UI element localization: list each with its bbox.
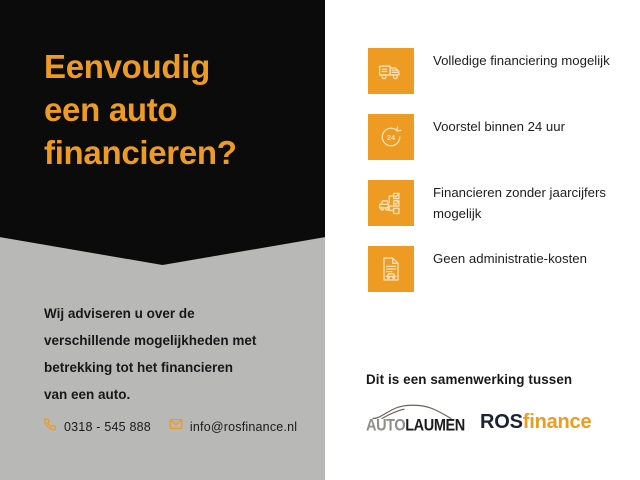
feature-label: Financieren zonder jaarcijfers mogelijk [433,180,613,225]
left-panel: Eenvoudig een auto financieren? Wij advi… [0,0,325,480]
feature-item: 24 Voorstel binnen 24 uur [368,114,628,160]
phone-contact[interactable]: 0318 - 545 888 [44,418,151,436]
financing-banner: Eenvoudig een auto financieren? Wij advi… [0,0,640,480]
svg-text:24: 24 [387,133,396,142]
feature-item: Financieren zonder jaarcijfers mogelijk [368,180,628,226]
car-checklist-icon [368,180,414,226]
feature-item: Volledige financiering mogelijk [368,48,628,94]
ros-finance-logo[interactable]: ROSfinance [480,411,591,435]
body-line-4: van een auto. [44,381,306,408]
auto-laumen-logo[interactable]: AUTOLAUMEN [366,403,458,435]
partnership-title: Dit is een samenwerking tussen [366,372,636,387]
clock-24-icon: 24 [368,114,414,160]
features-list: Volledige financiering mogelijk 24 Voors… [368,48,628,292]
email-address: info@rosfinance.nl [190,420,297,434]
truck-icon [368,48,414,94]
body-copy: Wij adviseren u over de verschillende mo… [44,300,306,408]
body-line-2: verschillende mogelijkheden met [44,327,306,354]
envelope-icon [169,417,183,436]
logo-laumen-text: LAUMEN [405,417,465,435]
phone-icon [44,418,57,436]
document-car-icon [368,246,414,292]
feature-label: Geen administratie-kosten [433,246,613,269]
email-contact[interactable]: info@rosfinance.nl [169,417,297,436]
body-line-1: Wij adviseren u over de [44,300,306,327]
feature-item: Geen administratie-kosten [368,246,628,292]
headline-line-3: financieren? [44,132,314,175]
logo-finance-text: finance [523,411,592,433]
body-line-3: betrekking tot het financieren [44,354,306,381]
headline-line-1: Eenvoudig [44,46,314,89]
feature-label: Voorstel binnen 24 uur [433,114,613,137]
logo-auto-text: AUTO [366,417,405,435]
partnership-section: Dit is een samenwerking tussen AUTOLAUME… [366,372,636,435]
partner-logos: AUTOLAUMEN ROSfinance [366,403,636,435]
feature-label: Volledige financiering mogelijk [433,48,613,71]
page-title: Eenvoudig een auto financieren? [44,46,314,175]
headline-line-2: een auto [44,89,314,132]
phone-number: 0318 - 545 888 [64,420,151,434]
contact-row: 0318 - 545 888 info@rosfinance.nl [44,417,297,436]
logo-ros-text: ROS [480,411,523,433]
